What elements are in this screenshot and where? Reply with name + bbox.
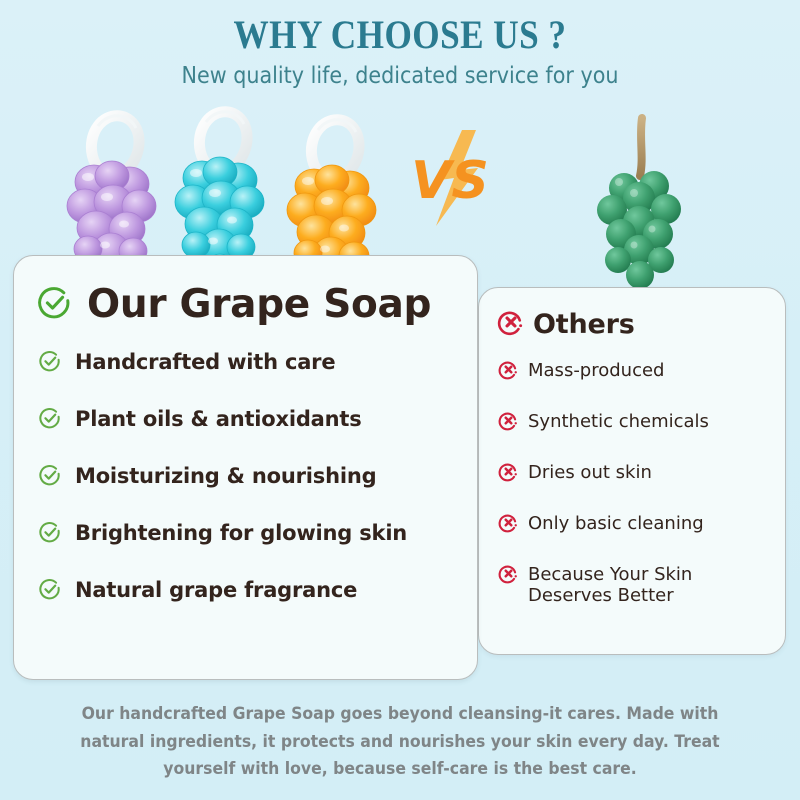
vs-badge: VS [400, 128, 500, 228]
others-bullet-list: Mass-produced Synthetic chemicals [479, 341, 785, 606]
check-circle-icon [38, 406, 62, 435]
list-item-label: Moisturizing & nourishing [75, 464, 376, 488]
list-item-label: Brightening for glowing skin [75, 521, 407, 545]
list-item: Only basic cleaning [498, 512, 785, 538]
list-item: Synthetic chemicals [498, 410, 785, 436]
x-circle-icon [498, 461, 519, 487]
vs-label: VS [411, 151, 489, 211]
list-item: Because Your Skin Deserves Better [498, 563, 785, 606]
green-grape-cluster-image [590, 110, 700, 310]
x-circle-icon [498, 410, 519, 436]
list-item: Handcrafted with care [38, 349, 477, 378]
check-circle-icon [36, 284, 73, 326]
list-item: Natural grape fragrance [38, 577, 477, 606]
check-circle-icon [38, 520, 62, 549]
check-circle-icon [38, 349, 62, 378]
page-subtitle: New quality life, dedicated service for … [40, 63, 760, 89]
header: WHY CHOOSE US ? New quality life, dedica… [0, 0, 800, 89]
x-circle-icon [497, 308, 525, 341]
x-circle-icon [498, 563, 519, 589]
others-card: Others Mass-produced [478, 287, 786, 655]
ours-card-title: Our Grape Soap [87, 282, 431, 327]
check-circle-icon [38, 577, 62, 606]
list-item: Plant oils & antioxidants [38, 406, 477, 435]
list-item: Dries out skin [498, 461, 785, 487]
ours-bullet-list: Handcrafted with care Plant oils & antio… [14, 327, 477, 606]
x-circle-icon [498, 512, 519, 538]
list-item-label: Only basic cleaning [528, 513, 704, 534]
footer-description: Our handcrafted Grape Soap goes beyond c… [68, 700, 733, 783]
list-item-label: Synthetic chemicals [528, 411, 709, 432]
list-item: Brightening for glowing skin [38, 520, 477, 549]
list-item-label: Because Your Skin Deserves Better [528, 564, 708, 606]
list-item-label: Natural grape fragrance [75, 578, 357, 602]
list-item-label: Handcrafted with care [75, 350, 335, 374]
ours-card-header: Our Grape Soap [14, 256, 477, 327]
list-item-label: Dries out skin [528, 462, 652, 483]
ours-card: Our Grape Soap Handcrafted with care [13, 255, 478, 680]
x-circle-icon [498, 359, 519, 385]
others-card-title: Others [533, 309, 635, 340]
page-title: WHY CHOOSE US ? [48, 14, 752, 56]
list-item: Moisturizing & nourishing [38, 463, 477, 492]
list-item: Mass-produced [498, 359, 785, 385]
check-circle-icon [38, 463, 62, 492]
promo-poster: WHY CHOOSE US ? New quality life, dedica… [0, 0, 800, 800]
list-item-label: Plant oils & antioxidants [75, 407, 362, 431]
others-card-header: Others [479, 288, 785, 341]
list-item-label: Mass-produced [528, 360, 665, 381]
